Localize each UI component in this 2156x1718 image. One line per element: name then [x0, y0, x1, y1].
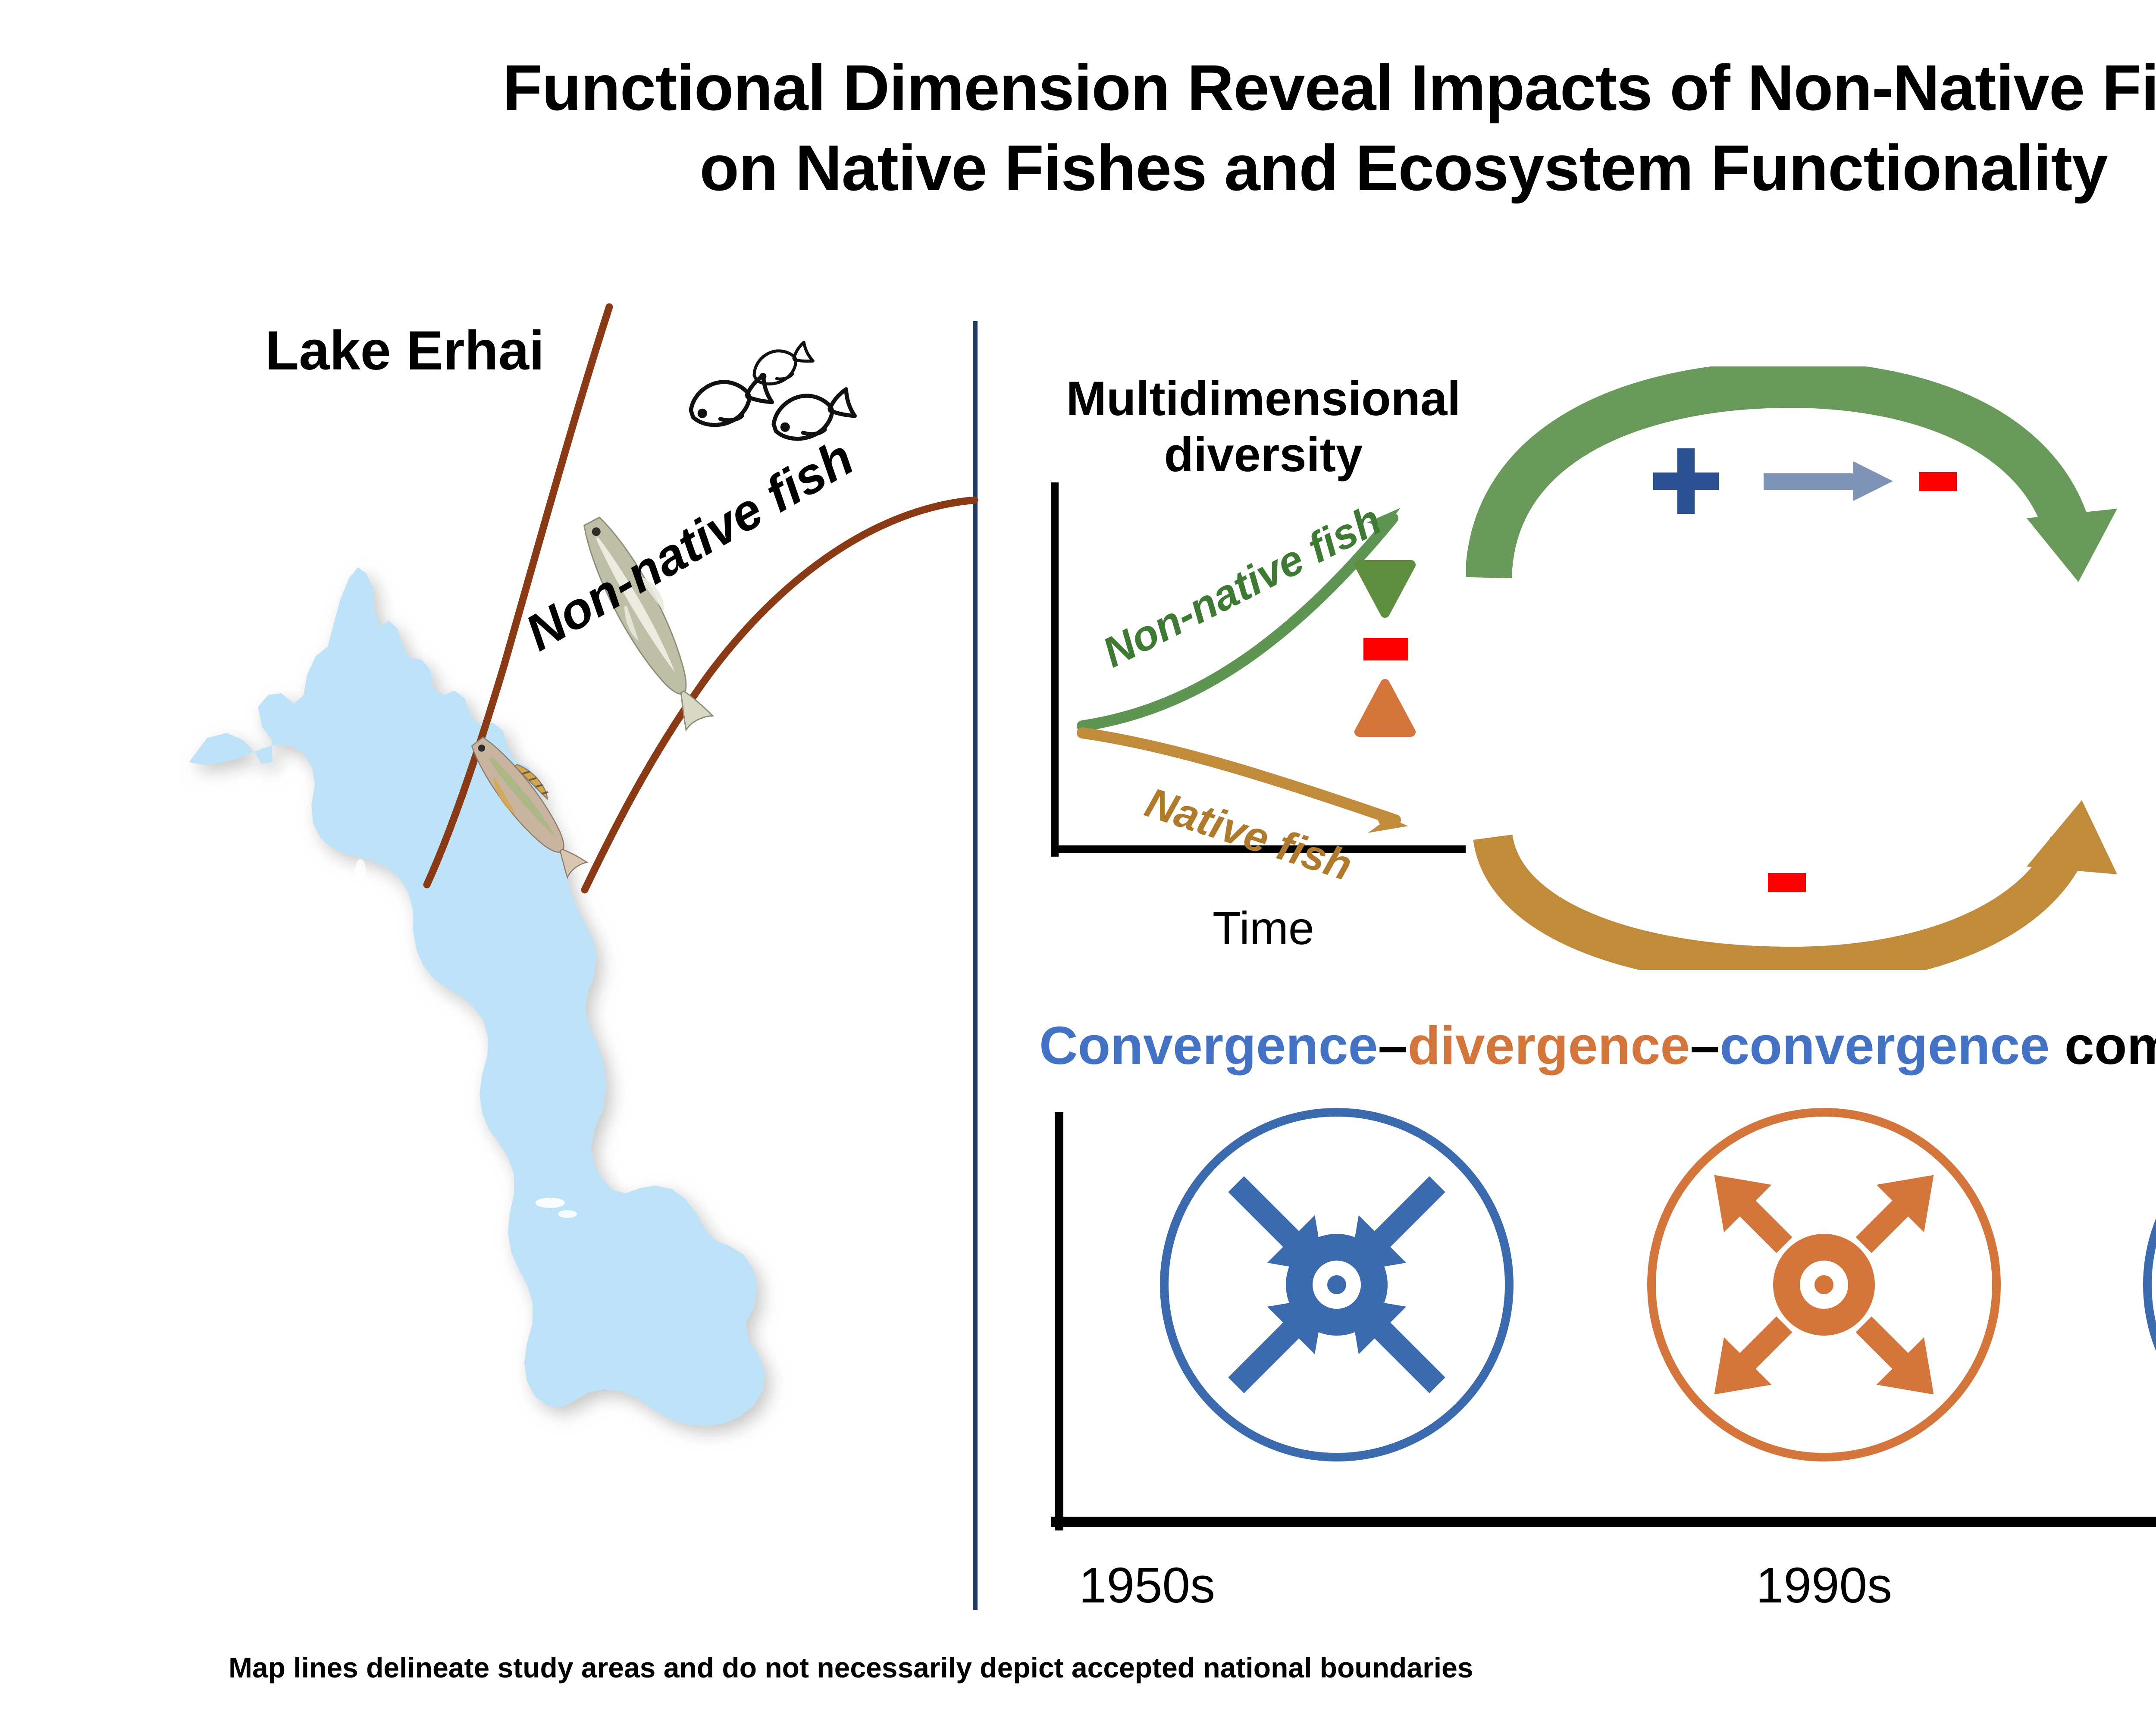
pattern-dash-1: – [1378, 1016, 1408, 1076]
lake-inlet-3 [355, 859, 366, 881]
pattern-word-divergence: divergence [1408, 1016, 1690, 1076]
orange-up-triangle-icon [1359, 684, 1411, 732]
fish-outline-icon-2 [748, 337, 815, 391]
pattern-word-convergence-2: convergence [1720, 1016, 2049, 1076]
decade-label-1990s: 1990s [1695, 1556, 1953, 1614]
lake-shape [189, 567, 765, 1426]
plus-icon [1653, 448, 1719, 514]
page-title: Functional Dimension Reveal Impacts of N… [0, 47, 2156, 208]
minus-icon-top [1919, 472, 1957, 491]
lake-name-label: Lake Erhai [265, 319, 544, 382]
pattern-dash-2: – [1690, 1016, 1720, 1076]
pattern-word-convergence-1: Convergence [1039, 1016, 1378, 1076]
cycle-svg [1466, 366, 2122, 970]
lake-erhai-map-svg [142, 276, 987, 1595]
community-pattern-timeline: 1950s 1990s 2020s [1035, 1104, 2156, 1664]
decade-label-1950s: 1950s [1018, 1556, 1276, 1614]
nonnative-series-label: Non-native fish [1095, 495, 1389, 676]
convergence-icon-2020s [2147, 1112, 2156, 1457]
link-arrow-icon [1764, 461, 1893, 501]
title-line-2: on Native Fishes and Ecosystem Functiona… [0, 128, 2156, 208]
minus-icon-bottom [1768, 873, 1806, 892]
lake-inlet-1 [536, 1198, 565, 1208]
diversity-chart-svg: Non-native fish Native fish [1035, 371, 1492, 905]
red-minus-bar-icon [1363, 638, 1408, 660]
fish-outline-icon-3 [768, 382, 856, 446]
title-line-1: Functional Dimension Reveal Impacts of N… [503, 51, 2156, 124]
diversity-x-axis-label: Time [1035, 901, 1492, 955]
ecosystem-multifunctionality-panel: Ecosystem multifunctionality Time [2130, 371, 2156, 957]
community-pattern-headline: Convergence–divergence–convergence commu… [1039, 1015, 2156, 1076]
divergence-icon-1990s [1651, 1112, 1996, 1457]
ecosystem-chart-svg [2130, 371, 2156, 905]
multidimensional-diversity-panel: Multidimensional diversity Non-native fi… [1035, 371, 1492, 957]
ecosystem-x-axis-label: Time [2130, 901, 2156, 955]
convergence-icon-1950s [1164, 1112, 1509, 1457]
green-down-triangle-icon [1359, 565, 1411, 613]
graphical-abstract: Functional Dimension Reveal Impacts of N… [0, 0, 2156, 1718]
timeline-svg [1035, 1104, 2156, 1548]
lake-map-panel: Lake Erhai Non-native fish [142, 276, 987, 1595]
pattern-suffix: community pattern [2049, 1016, 2156, 1076]
interaction-cycle [1466, 366, 2122, 970]
lake-inlet-2 [558, 1210, 577, 1218]
